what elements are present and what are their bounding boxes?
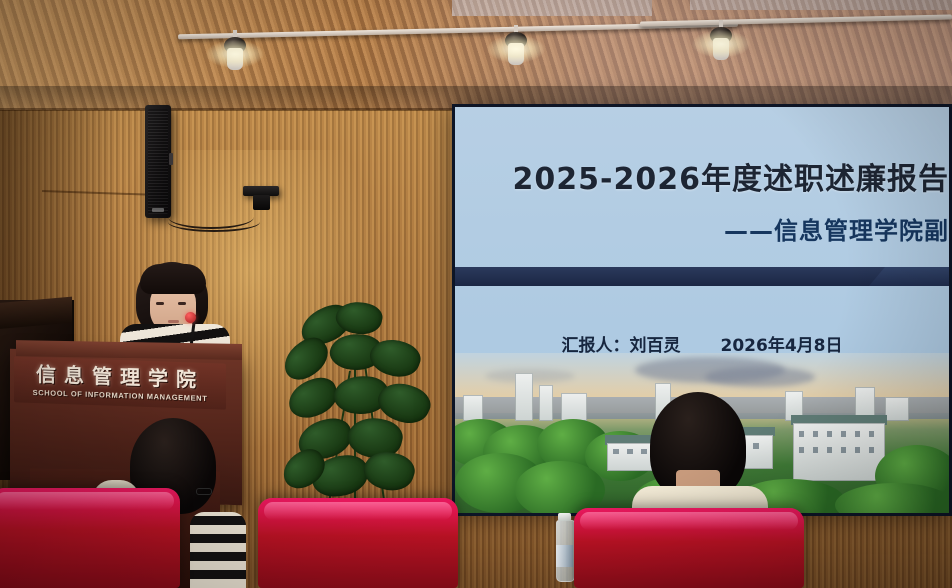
ceiling-spotlight bbox=[503, 25, 529, 65]
ceiling-panel bbox=[452, 0, 652, 16]
ceiling-spotlight bbox=[708, 20, 734, 60]
microphone-icon bbox=[185, 312, 196, 323]
slide-title: 2025-2026年度述职述廉报告 bbox=[455, 154, 949, 198]
water-bottle-label bbox=[556, 545, 573, 567]
eyeglasses-icon bbox=[196, 488, 212, 495]
podium-sign-chinese: 信息管理学院 bbox=[36, 364, 204, 390]
wall-camera-body bbox=[253, 195, 270, 210]
potted-plant bbox=[278, 300, 448, 515]
ceiling-panel bbox=[690, 0, 952, 10]
cable bbox=[168, 212, 260, 232]
audience-seat bbox=[0, 488, 180, 588]
slide-subtitle: ——信息管理学院副 bbox=[455, 211, 949, 246]
column-speaker-icon bbox=[145, 105, 171, 218]
audience-body-left bbox=[190, 512, 246, 588]
ceiling-spotlight bbox=[222, 30, 248, 70]
water-bottle-cap bbox=[558, 513, 571, 521]
audience-seat bbox=[574, 508, 804, 588]
lecture-hall-photo: 信息管理学院 SCHOOL OF INFORMATION MANAGEMENT … bbox=[0, 0, 952, 588]
audience-seat bbox=[258, 498, 458, 588]
podium-sign: 信息管理学院 SCHOOL OF INFORMATION MANAGEMENT bbox=[14, 356, 226, 409]
